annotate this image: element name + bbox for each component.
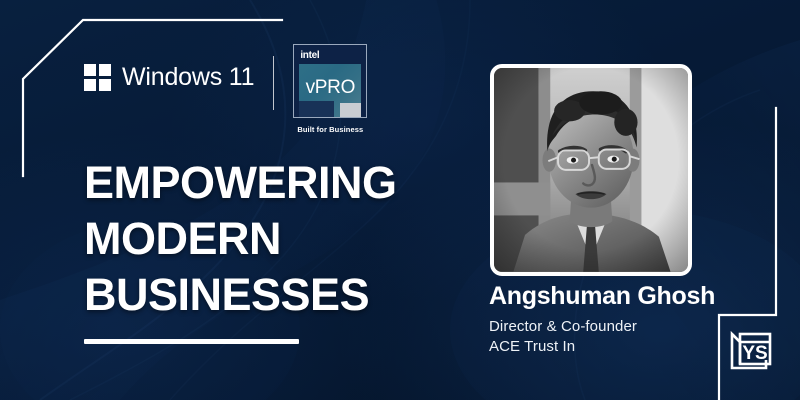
headline-line-1: EMPOWERING	[84, 155, 484, 211]
promo-banner: Windows 11 intel vPRO Built for Business…	[0, 0, 800, 400]
yourstory-logo-text: YS	[742, 343, 767, 364]
windows-11-logo: Windows 11	[84, 64, 254, 91]
windows-11-label: Windows 11	[122, 65, 254, 90]
intel-brand-label: intel	[300, 50, 361, 62]
speaker-info: Angshuman Ghosh Director & Co-founder AC…	[489, 281, 749, 357]
intel-chip-graphic: vPRO	[299, 64, 361, 117]
yourstory-logo: YS	[726, 324, 780, 378]
headline-line-3: BUSINESSES	[84, 267, 484, 323]
headline-line-2: MODERN	[84, 211, 484, 267]
speaker-name: Angshuman Ghosh	[489, 281, 749, 311]
headline-block: EMPOWERING MODERN BUSINESSES	[84, 155, 484, 344]
speaker-photo-frame	[490, 64, 692, 276]
speaker-role: Director & Co-founder	[489, 317, 749, 337]
logo-divider	[273, 56, 274, 110]
intel-badge-box: intel vPRO	[293, 44, 367, 118]
speaker-organization: ACE Trust In	[489, 337, 749, 357]
headline-underline	[84, 339, 299, 344]
intel-tagline: Built for Business	[297, 125, 363, 134]
vpro-label: vPRO	[306, 78, 355, 97]
speaker-portrait	[494, 68, 688, 272]
intel-vpro-badge: intel vPRO Built for Business	[291, 44, 369, 134]
brand-logo-row: Windows 11 intel vPRO Built for Business	[84, 44, 369, 134]
windows-logo-icon	[84, 64, 111, 91]
